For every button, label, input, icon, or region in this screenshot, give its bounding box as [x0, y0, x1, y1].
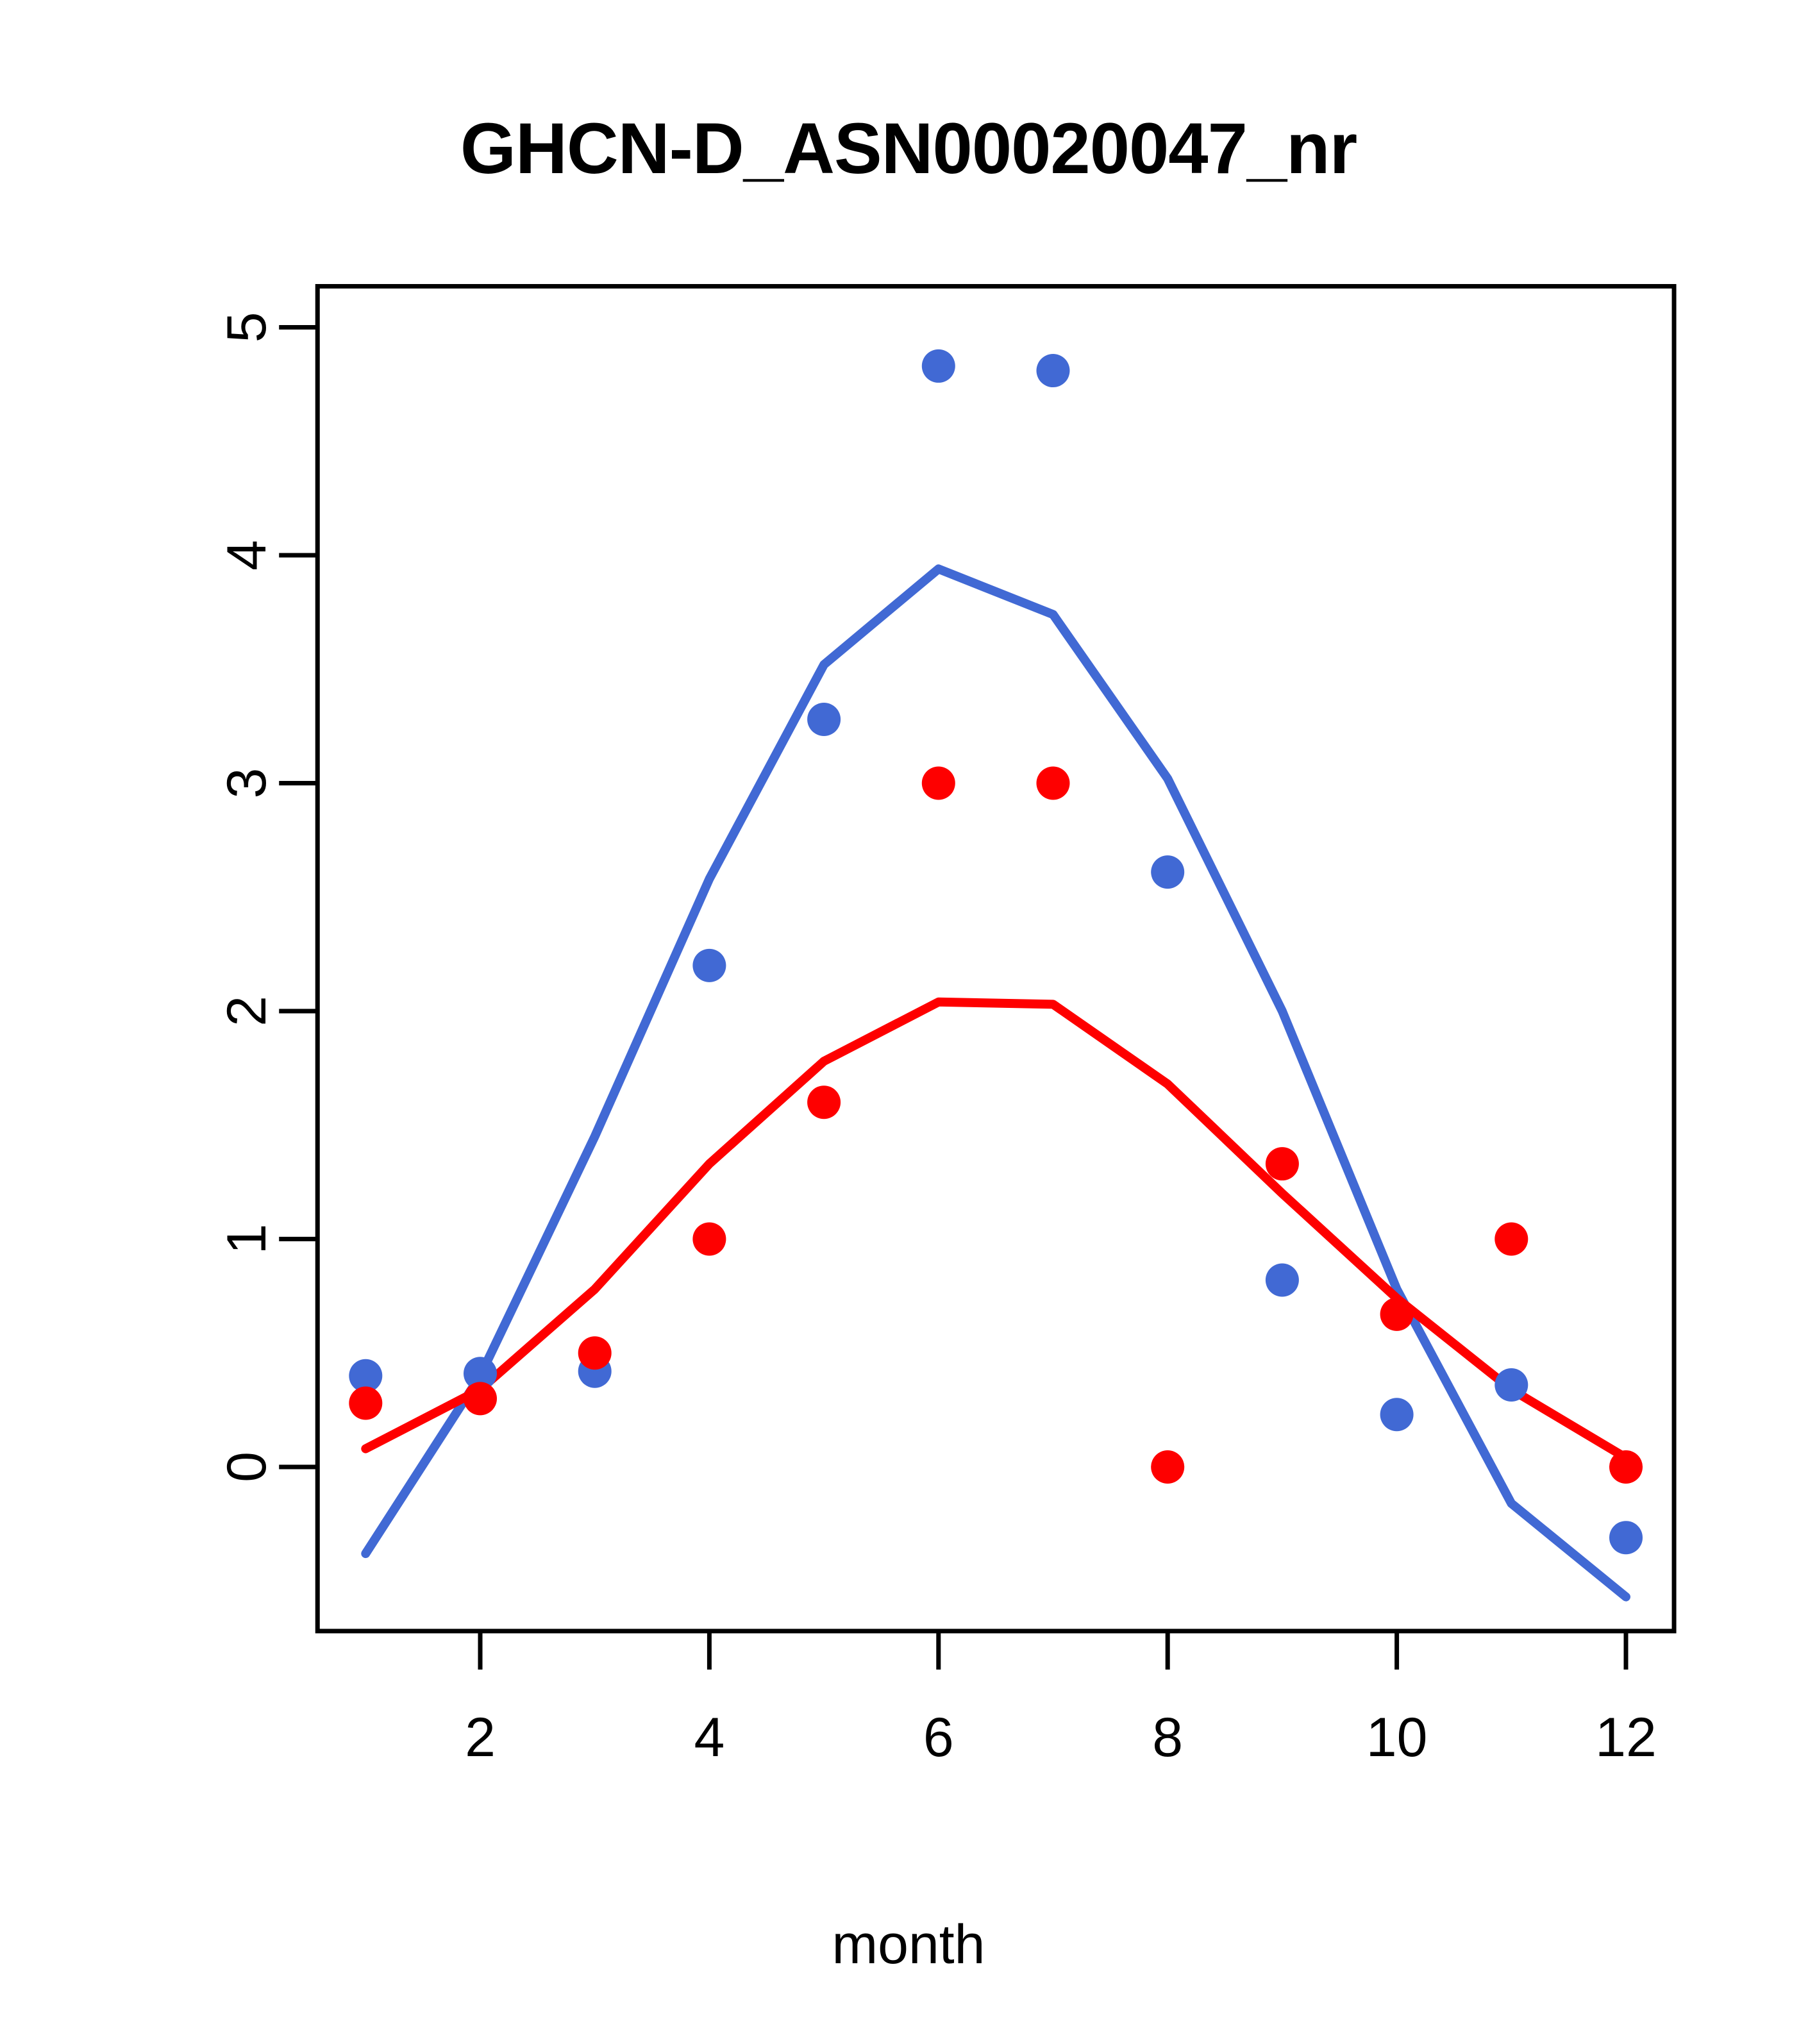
chart-canvas: 012345 24681012 [0, 0, 1817, 2044]
data-point [692, 949, 726, 982]
data-point [807, 703, 841, 736]
y-tick-label: 0 [216, 1452, 278, 1482]
y-tick-label: 3 [216, 768, 278, 799]
data-point [1266, 1263, 1299, 1296]
x-tick-label: 12 [1595, 1707, 1657, 1768]
data-point [922, 767, 955, 800]
y-tick-label: 4 [216, 540, 278, 571]
data-point [692, 1223, 726, 1256]
data-series-group [349, 349, 1643, 1597]
data-point [1151, 855, 1184, 889]
data-point [464, 1382, 497, 1415]
data-point [807, 1085, 841, 1119]
x-tick-label: 10 [1366, 1707, 1428, 1768]
x-axis-ticks: 24681012 [465, 1631, 1657, 1768]
data-point [1151, 1450, 1184, 1484]
red-points [349, 767, 1643, 1484]
data-point [1495, 1223, 1528, 1256]
data-point [578, 1336, 612, 1370]
x-axis-label: month [0, 1917, 1817, 1972]
data-point [1380, 1298, 1414, 1331]
y-tick-label: 2 [216, 996, 278, 1026]
y-tick-label: 5 [216, 312, 278, 343]
data-point [1380, 1398, 1414, 1431]
data-point [1609, 1450, 1643, 1484]
data-point [1609, 1521, 1643, 1554]
y-axis-ticks: 012345 [216, 312, 317, 1482]
data-point [1266, 1147, 1299, 1180]
y-tick-label: 1 [216, 1224, 278, 1255]
x-tick-label: 6 [923, 1707, 954, 1768]
blue-line [365, 569, 1626, 1596]
x-tick-label: 4 [694, 1707, 724, 1768]
x-tick-label: 2 [465, 1707, 496, 1768]
blue-points [349, 349, 1643, 1554]
plot-figure: GHCN-D_ASN00020047_nr 012345 24681012 mo… [0, 0, 1817, 2044]
x-tick-label: 8 [1152, 1707, 1183, 1768]
data-point [1495, 1368, 1528, 1402]
data-point [1037, 354, 1070, 387]
data-point [1037, 767, 1070, 800]
data-point [922, 349, 955, 383]
data-point [349, 1386, 382, 1420]
